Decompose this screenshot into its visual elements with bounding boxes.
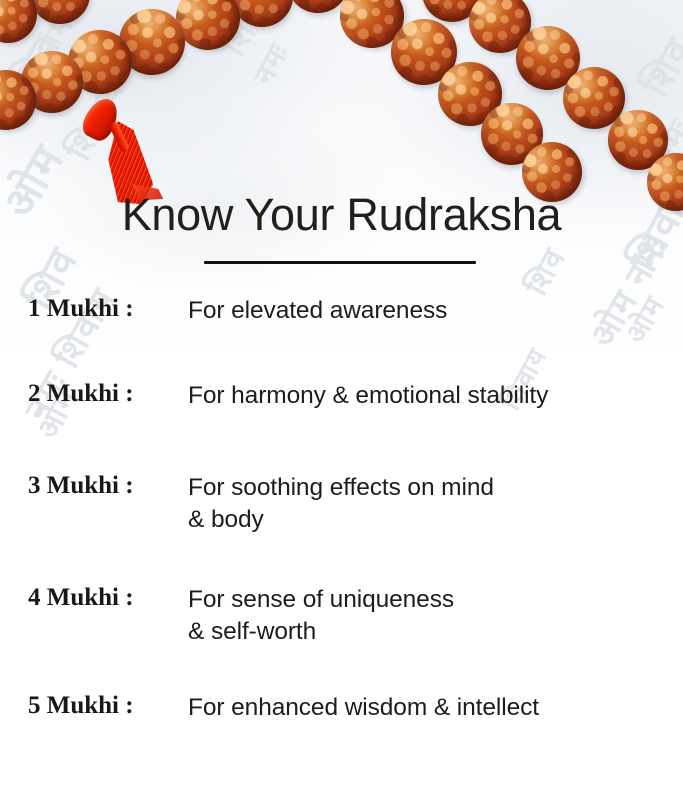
mukhi-label: 2 Mukhi :: [28, 380, 188, 408]
mukhi-description: For sense of uniqueness & self-worth: [188, 584, 683, 648]
mukhi-label: 1 Mukhi :: [28, 295, 188, 323]
mukhi-list-item: 4 Mukhi :For sense of uniqueness & self-…: [0, 584, 683, 692]
mukhi-label: 4 Mukhi :: [28, 584, 188, 612]
rudraksha-info-poster: शिवनमःशिवायओमशिवनमः शिवायओमशिवायनमःशिवओम…: [0, 0, 683, 800]
mukhi-description: For soothing effects on mind & body: [188, 472, 683, 536]
mukhi-description: For elevated awareness: [188, 295, 683, 327]
poster-content: Know Your Rudraksha 1 Mukhi :For elevate…: [0, 0, 683, 800]
mukhi-list-item: 3 Mukhi :For soothing effects on mind & …: [0, 472, 683, 584]
mukhi-label: 5 Mukhi :: [28, 692, 188, 720]
mukhi-list-item: 2 Mukhi :For harmony & emotional stabili…: [0, 380, 683, 472]
mukhi-description: For harmony & emotional stability: [188, 380, 683, 412]
mukhi-description: For enhanced wisdom & intellect: [188, 692, 683, 724]
mukhi-label: 3 Mukhi :: [28, 472, 188, 500]
title-divider: [204, 261, 476, 264]
mukhi-meaning-list: 1 Mukhi :For elevated awareness2 Mukhi :…: [0, 295, 683, 762]
mukhi-list-item: 1 Mukhi :For elevated awareness: [0, 295, 683, 380]
mukhi-list-item: 5 Mukhi :For enhanced wisdom & intellect: [0, 692, 683, 762]
page-title: Know Your Rudraksha: [0, 192, 683, 237]
